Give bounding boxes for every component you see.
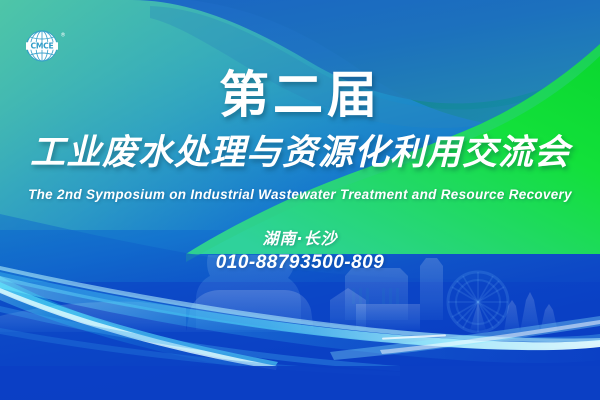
pavilion-annex-silhouette: [356, 304, 420, 330]
logo-trademark-icon: ®: [61, 32, 66, 39]
ferris-wheel-silhouette: [448, 272, 508, 332]
event-phone[interactable]: 010-88793500-809: [0, 251, 600, 274]
globe-logo-icon: CMCE: [26, 31, 58, 61]
bottom-vignette: [0, 366, 600, 400]
title-english: The 2nd Symposium on Industrial Wastewat…: [0, 186, 600, 204]
title-main: 第二届: [0, 68, 600, 122]
logo-wordmark: CMCE: [30, 41, 53, 50]
event-city: 湖南·长沙: [0, 229, 600, 249]
conference-banner: CMCE ® 第二届 工业废水处理与资源化利用交流会 The 2nd Sympo…: [0, 0, 600, 400]
title-subtitle: 工业废水处理与资源化利用交流会: [0, 132, 600, 174]
cmce-logo[interactable]: CMCE ®: [20, 28, 82, 64]
